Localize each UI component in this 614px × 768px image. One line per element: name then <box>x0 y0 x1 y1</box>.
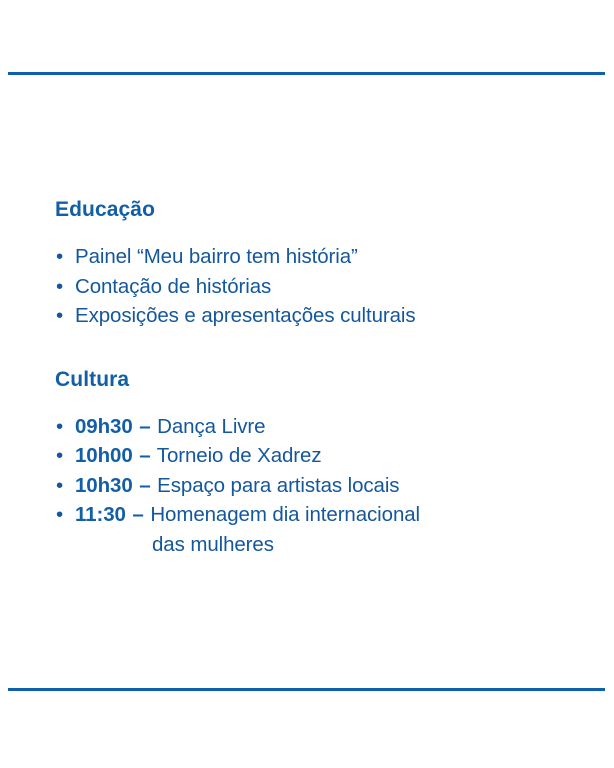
item-list-educacao: • Painel “Meu bairro tem história” • Con… <box>55 242 565 331</box>
bullet-icon: • <box>56 471 76 501</box>
item-list-cultura: • 09h30 – Dança Livre • 10h00 – Torneio … <box>55 412 565 560</box>
schedule-label: Espaço para artistas locais <box>157 474 399 497</box>
top-divider-rule <box>8 72 605 75</box>
schedule-time: 09h30 <box>75 415 133 438</box>
schedule-label: Torneio de Xadrez <box>157 444 322 467</box>
schedule-label: Dança Livre <box>157 415 265 438</box>
bullet-icon: • <box>56 301 76 331</box>
bullet-icon: • <box>56 412 76 442</box>
list-item: • Exposições e apresentações culturais <box>55 301 565 331</box>
schedule-dash: – <box>138 444 151 467</box>
schedule-label-continuation: das mulheres <box>75 530 565 560</box>
list-item: • Painel “Meu bairro tem história” <box>55 242 565 272</box>
section-heading-educacao: Educação <box>55 198 565 221</box>
schedule-dash: – <box>131 503 144 526</box>
list-item-label: Contação de histórias <box>75 275 271 298</box>
list-item-label: Exposições e apresentações culturais <box>75 304 416 327</box>
slide-canvas: Educação • Painel “Meu bairro tem histór… <box>0 0 614 768</box>
section-cultura: Cultura • 09h30 – Dança Livre • 10h00 – … <box>55 368 565 560</box>
content-area: Educação • Painel “Meu bairro tem histór… <box>55 198 565 559</box>
schedule-row: • 10h30 – Espaço para artistas locais <box>55 471 565 501</box>
schedule-row: • 10h00 – Torneio de Xadrez <box>55 441 565 471</box>
bullet-icon: • <box>56 242 76 272</box>
bullet-icon: • <box>56 500 76 530</box>
schedule-time: 10h00 <box>75 444 133 467</box>
schedule-time: 11:30 <box>75 503 126 526</box>
schedule-row: • 11:30 – Homenagem dia internacional da… <box>55 500 565 559</box>
list-item: • Contação de histórias <box>55 272 565 302</box>
section-heading-cultura: Cultura <box>55 368 565 391</box>
bullet-icon: • <box>56 272 76 302</box>
schedule-row: • 09h30 – Dança Livre <box>55 412 565 442</box>
schedule-time: 10h30 <box>75 474 133 497</box>
bottom-divider-rule <box>8 688 605 691</box>
schedule-dash: – <box>138 474 151 497</box>
schedule-label: Homenagem dia internacional <box>150 503 420 526</box>
section-educacao: Educação • Painel “Meu bairro tem histór… <box>55 198 565 331</box>
list-item-label: Painel “Meu bairro tem história” <box>75 245 358 268</box>
schedule-dash: – <box>138 415 151 438</box>
bullet-icon: • <box>56 441 76 471</box>
